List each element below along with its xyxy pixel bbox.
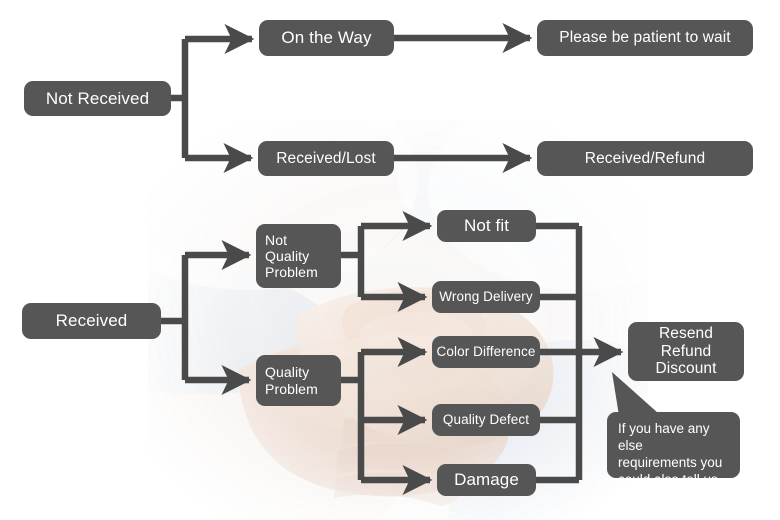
node-please-be-patient-to-wait[interactable]: Please be patient to wait [537,20,753,56]
handshake-background-image [148,120,648,520]
node-not-fit[interactable]: Not fit [437,210,536,242]
node-resend-refund-discount[interactable]: Resend Refund Discount [628,322,744,381]
node-received[interactable]: Received [22,303,161,339]
node-not-quality-problem[interactable]: Not Quality Problem [256,224,341,288]
node-color-difference[interactable]: Color Difference [432,336,540,368]
node-received-refund[interactable]: Received/Refund [537,141,753,176]
node-quality-defect[interactable]: Quality Defect [432,404,540,436]
node-not-received[interactable]: Not Received [24,81,171,116]
node-wrong-delivery[interactable]: Wrong Delivery [432,281,540,313]
node-quality-problem[interactable]: Quality Problem [256,355,341,406]
callout-extra-requirements[interactable]: If you have any else requirements you co… [607,412,740,478]
node-on-the-way[interactable]: On the Way [259,20,394,56]
flowchart-canvas: Not Received On the Way Received/Lost Pl… [0,0,780,520]
node-damage[interactable]: Damage [437,464,536,496]
node-received-lost[interactable]: Received/Lost [258,141,394,176]
